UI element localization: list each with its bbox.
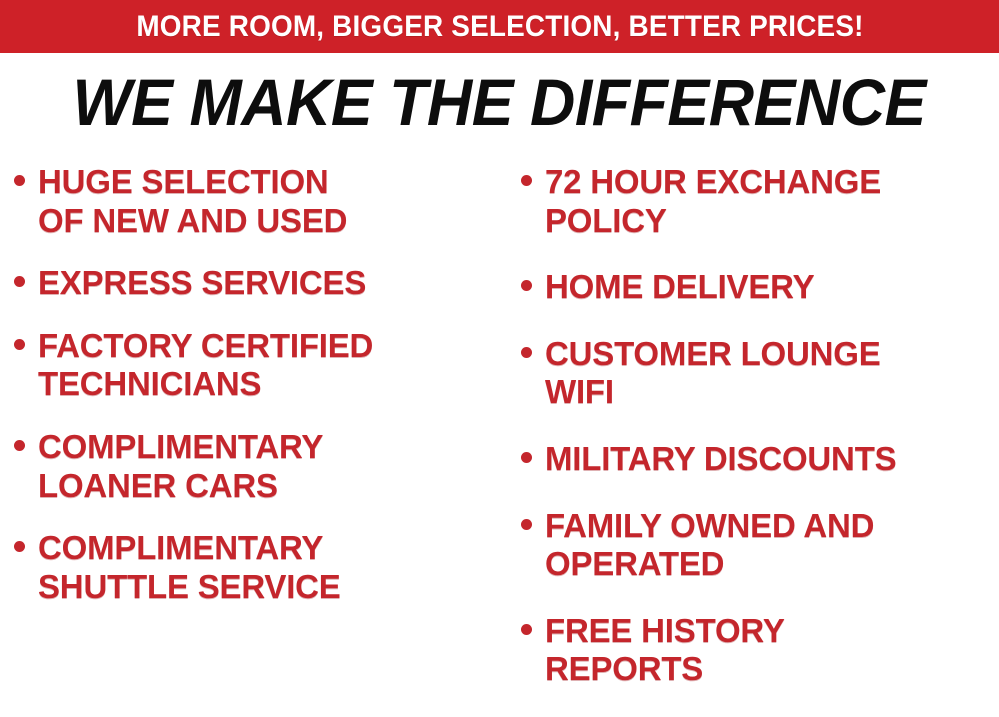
bullet-dot-icon	[14, 339, 25, 350]
list-item: HUGE SELECTION OF NEW AND USED	[14, 163, 505, 240]
list-item: FACTORY CERTIFIED TECHNICIANS	[14, 327, 505, 404]
list-item-label: FACTORY CERTIFIED TECHNICIANS	[38, 327, 373, 404]
advertisement-banner: MORE ROOM, BIGGER SELECTION, BETTER PRIC…	[0, 0, 999, 692]
list-item: FREE HISTORY REPORTS	[521, 612, 999, 689]
bullet-dot-icon	[14, 276, 25, 287]
list-item: EXPRESS SERVICES	[14, 264, 505, 303]
list-item-label: COMPLIMENTARY SHUTTLE SERVICE	[38, 529, 341, 606]
list-item-label: FAMILY OWNED AND OPERATED	[545, 507, 874, 584]
list-item: 72 HOUR EXCHANGE POLICY	[521, 163, 999, 240]
promo-banner-text: MORE ROOM, BIGGER SELECTION, BETTER PRIC…	[136, 12, 863, 42]
bullet-dot-icon	[14, 175, 25, 186]
list-item-label: MILITARY DISCOUNTS	[545, 440, 896, 479]
list-item: COMPLIMENTARY SHUTTLE SERVICE	[14, 529, 505, 606]
bullet-dot-icon	[14, 440, 25, 451]
bullet-dot-icon	[521, 280, 532, 291]
feature-columns: HUGE SELECTION OF NEW AND USED EXPRESS S…	[0, 152, 999, 692]
list-item: MILITARY DISCOUNTS	[521, 440, 999, 479]
list-item: COMPLIMENTARY LOANER CARS	[14, 428, 505, 505]
list-item-label: CUSTOMER LOUNGE WIFI	[545, 335, 881, 412]
list-item-label: EXPRESS SERVICES	[38, 264, 366, 303]
promo-banner: MORE ROOM, BIGGER SELECTION, BETTER PRIC…	[0, 0, 999, 53]
headline-text: WE MAKE THE DIFFERENCE	[73, 69, 926, 135]
list-item: CUSTOMER LOUNGE WIFI	[521, 335, 999, 412]
bullet-dot-icon	[521, 452, 532, 463]
headline: WE MAKE THE DIFFERENCE	[0, 62, 999, 142]
bullet-dot-icon	[521, 519, 532, 530]
bullet-dot-icon	[521, 175, 532, 186]
list-item-label: FREE HISTORY REPORTS	[545, 612, 785, 689]
bullet-dot-icon	[521, 624, 532, 635]
list-item-label: COMPLIMENTARY LOANER CARS	[38, 428, 323, 505]
feature-column-left: HUGE SELECTION OF NEW AND USED EXPRESS S…	[0, 152, 505, 630]
bullet-dot-icon	[14, 541, 25, 552]
list-item-label: 72 HOUR EXCHANGE POLICY	[545, 163, 881, 240]
list-item-label: HOME DELIVERY	[545, 268, 814, 307]
list-item-label: HUGE SELECTION OF NEW AND USED	[38, 163, 347, 240]
list-item: HOME DELIVERY	[521, 268, 999, 307]
bullet-dot-icon	[521, 347, 532, 358]
feature-column-right: 72 HOUR EXCHANGE POLICY HOME DELIVERY CU…	[505, 152, 999, 717]
list-item: FAMILY OWNED AND OPERATED	[521, 507, 999, 584]
